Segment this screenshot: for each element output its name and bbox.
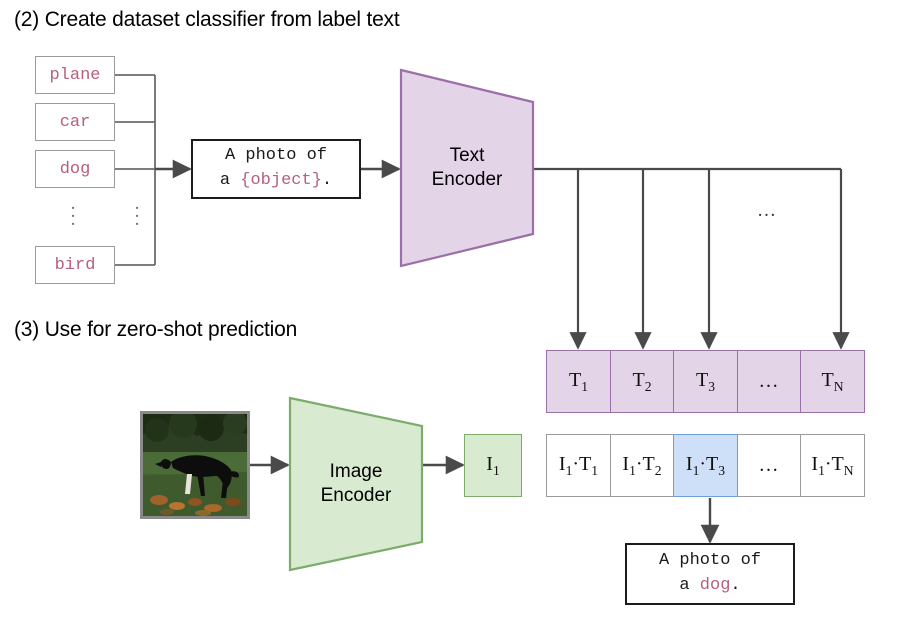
cell-label: T1 bbox=[569, 369, 588, 395]
input-image-content bbox=[143, 414, 247, 516]
label-text: dog bbox=[60, 160, 91, 179]
text-encoder-fanout bbox=[533, 169, 841, 348]
cell-label: … bbox=[759, 370, 780, 393]
output-line-1: A photo of bbox=[659, 549, 761, 574]
output-line-2: a dog. bbox=[679, 574, 740, 599]
label-text: car bbox=[60, 113, 91, 132]
label-text: plane bbox=[49, 66, 100, 85]
prediction-output-box: A photo of a dog. bbox=[625, 543, 795, 605]
cell-label: I1·T2 bbox=[622, 453, 661, 479]
text-embedding-cell-tn[interactable]: TN bbox=[800, 350, 865, 413]
cell-label: … bbox=[759, 454, 780, 477]
score-cell-3-selected[interactable]: I1·T3 bbox=[673, 434, 738, 497]
cell-label: TN bbox=[821, 369, 843, 395]
cell-label: I1·TN bbox=[811, 453, 853, 479]
text-embedding-row: T1 T2 T3 … TN bbox=[546, 350, 865, 413]
section-title-2: (2) Create dataset classifier from label… bbox=[14, 8, 400, 32]
section-title-3: (3) Use for zero-shot prediction bbox=[14, 318, 297, 342]
prompt-line-1: A photo of bbox=[225, 144, 327, 169]
image-encoder-label-line2: Encoder bbox=[321, 484, 392, 508]
text-embedding-cell-t2[interactable]: T2 bbox=[610, 350, 675, 413]
image-encoder-label: Image Encoder bbox=[321, 460, 392, 508]
cell-label: I1·T1 bbox=[559, 453, 598, 479]
text-encoder-label: Text Encoder bbox=[432, 144, 503, 192]
text-embedding-cell-t1[interactable]: T1 bbox=[546, 350, 611, 413]
image-encoder-label-line1: Image bbox=[321, 460, 392, 484]
text-fanout-ellipsis: … bbox=[757, 200, 777, 222]
text-encoder[interactable]: Text Encoder bbox=[399, 68, 535, 268]
text-encoder-label-line1: Text bbox=[432, 144, 503, 168]
text-embedding-cell-ellipsis: … bbox=[737, 350, 802, 413]
label-box-plane[interactable]: plane bbox=[35, 56, 115, 94]
cell-label: I1·T3 bbox=[686, 453, 725, 479]
cell-label: T3 bbox=[696, 369, 715, 395]
cell-label: T2 bbox=[632, 369, 651, 395]
text-encoder-label-line2: Encoder bbox=[432, 168, 503, 192]
input-image-thumbnail[interactable] bbox=[140, 411, 250, 519]
score-cell-1[interactable]: I1·T1 bbox=[546, 434, 611, 497]
output-line-2-prefix: a bbox=[679, 576, 699, 595]
image-encoder[interactable]: Image Encoder bbox=[288, 396, 424, 572]
label-box-dog[interactable]: dog bbox=[35, 150, 115, 188]
text-embedding-cell-t3[interactable]: T3 bbox=[673, 350, 738, 413]
prompt-line-2-prefix: a bbox=[220, 171, 240, 190]
prompt-line-2-suffix: . bbox=[322, 171, 332, 190]
label-bus-wires bbox=[115, 75, 155, 265]
output-line-2-suffix: . bbox=[730, 576, 740, 595]
label-column-ellipsis: ... bbox=[53, 200, 93, 224]
score-cell-n[interactable]: I1·TN bbox=[800, 434, 865, 497]
figure-root: (2) Create dataset classifier from label… bbox=[0, 0, 906, 624]
output-predicted-word: dog bbox=[700, 576, 731, 595]
cell-label: I1 bbox=[486, 453, 499, 479]
image-embedding-cell-i1[interactable]: I1 bbox=[464, 434, 522, 497]
score-cell-ellipsis: … bbox=[737, 434, 802, 497]
prompt-template-box: A photo of a {object}. bbox=[191, 139, 361, 199]
label-box-car[interactable]: car bbox=[35, 103, 115, 141]
label-bus-ellipsis: ... bbox=[117, 200, 157, 224]
prompt-line-2: a {object}. bbox=[220, 169, 332, 194]
prompt-object-slot: {object} bbox=[240, 171, 322, 190]
score-cell-2[interactable]: I1·T2 bbox=[610, 434, 675, 497]
similarity-score-row: I1·T1 I1·T2 I1·T3 … I1·TN bbox=[546, 434, 865, 497]
label-text: bird bbox=[55, 256, 96, 275]
label-box-bird[interactable]: bird bbox=[35, 246, 115, 284]
